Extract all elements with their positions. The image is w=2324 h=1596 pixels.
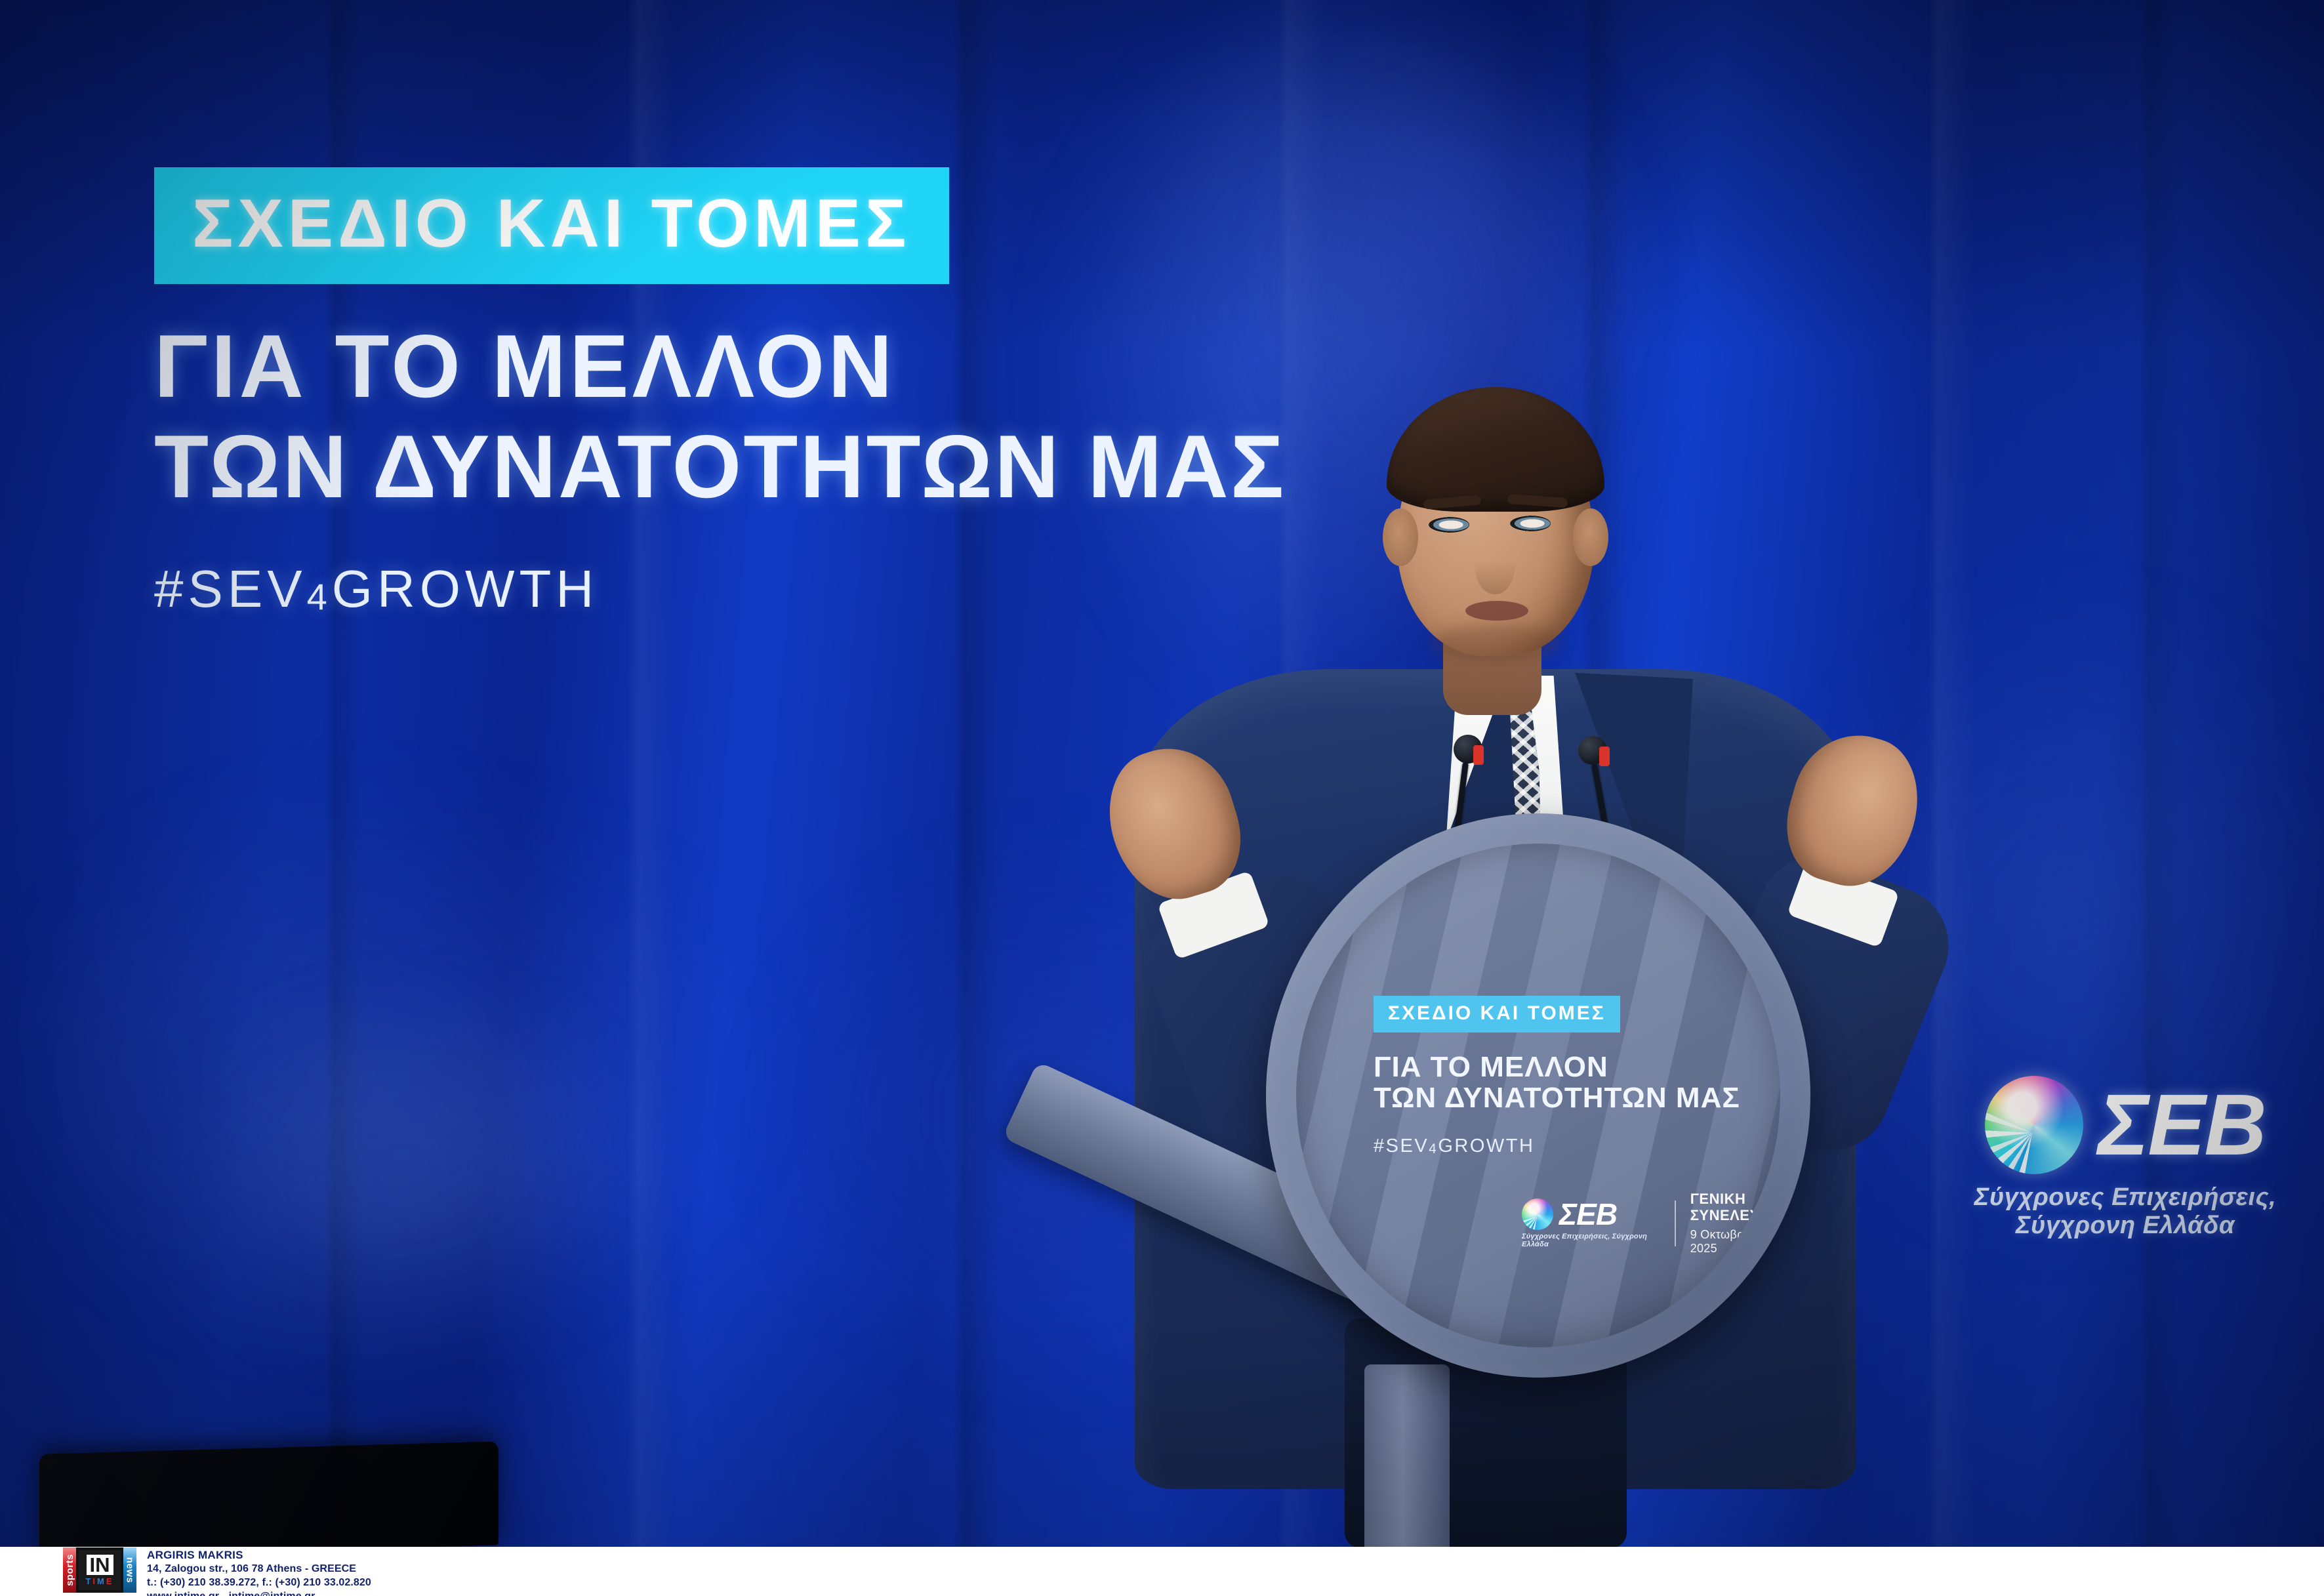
watermark-photographer: ARGIRIS MAKRIS [147, 1548, 371, 1563]
intime-sports-label: sports [64, 1554, 75, 1586]
watermark-phone: t.: (+30) 210 38.39.272, f.: (+30) 210 3… [147, 1576, 371, 1590]
intime-logo-box: IN TIME [76, 1547, 123, 1593]
intime-news-tab: news [123, 1547, 136, 1593]
intime-logo: sports IN TIME news [63, 1547, 136, 1593]
intime-sports-tab: sports [63, 1547, 76, 1593]
intime-time-mark: TIME [85, 1576, 113, 1586]
photo-vignette [0, 0, 2324, 1596]
agency-watermark: sports IN TIME news ARGIRIS MAKRIS 14, Z… [63, 1547, 371, 1596]
intime-news-label: news [125, 1557, 136, 1584]
intime-time-letter-e: E [106, 1576, 114, 1586]
watermark-contact: www.intime.gr - intime@intime.gr [147, 1590, 371, 1596]
intime-time-letter-t: T [85, 1576, 92, 1586]
intime-time-letter-m: M [97, 1576, 106, 1586]
watermark-credit-block: ARGIRIS MAKRIS 14, Zalogou str., 106 78 … [147, 1547, 371, 1596]
intime-in-mark: IN [87, 1555, 113, 1575]
watermark-address: 14, Zalogou str., 106 78 Athens - GREECE [147, 1563, 371, 1576]
photo-canvas: ΣΧΕΔΙΟ ΚΑΙ ΤΟΜΕΣ ΓΙΑ ΤΟ ΜΕΛΛΟΝ ΤΩΝ ΔΥΝΑΤ… [0, 0, 2324, 1596]
